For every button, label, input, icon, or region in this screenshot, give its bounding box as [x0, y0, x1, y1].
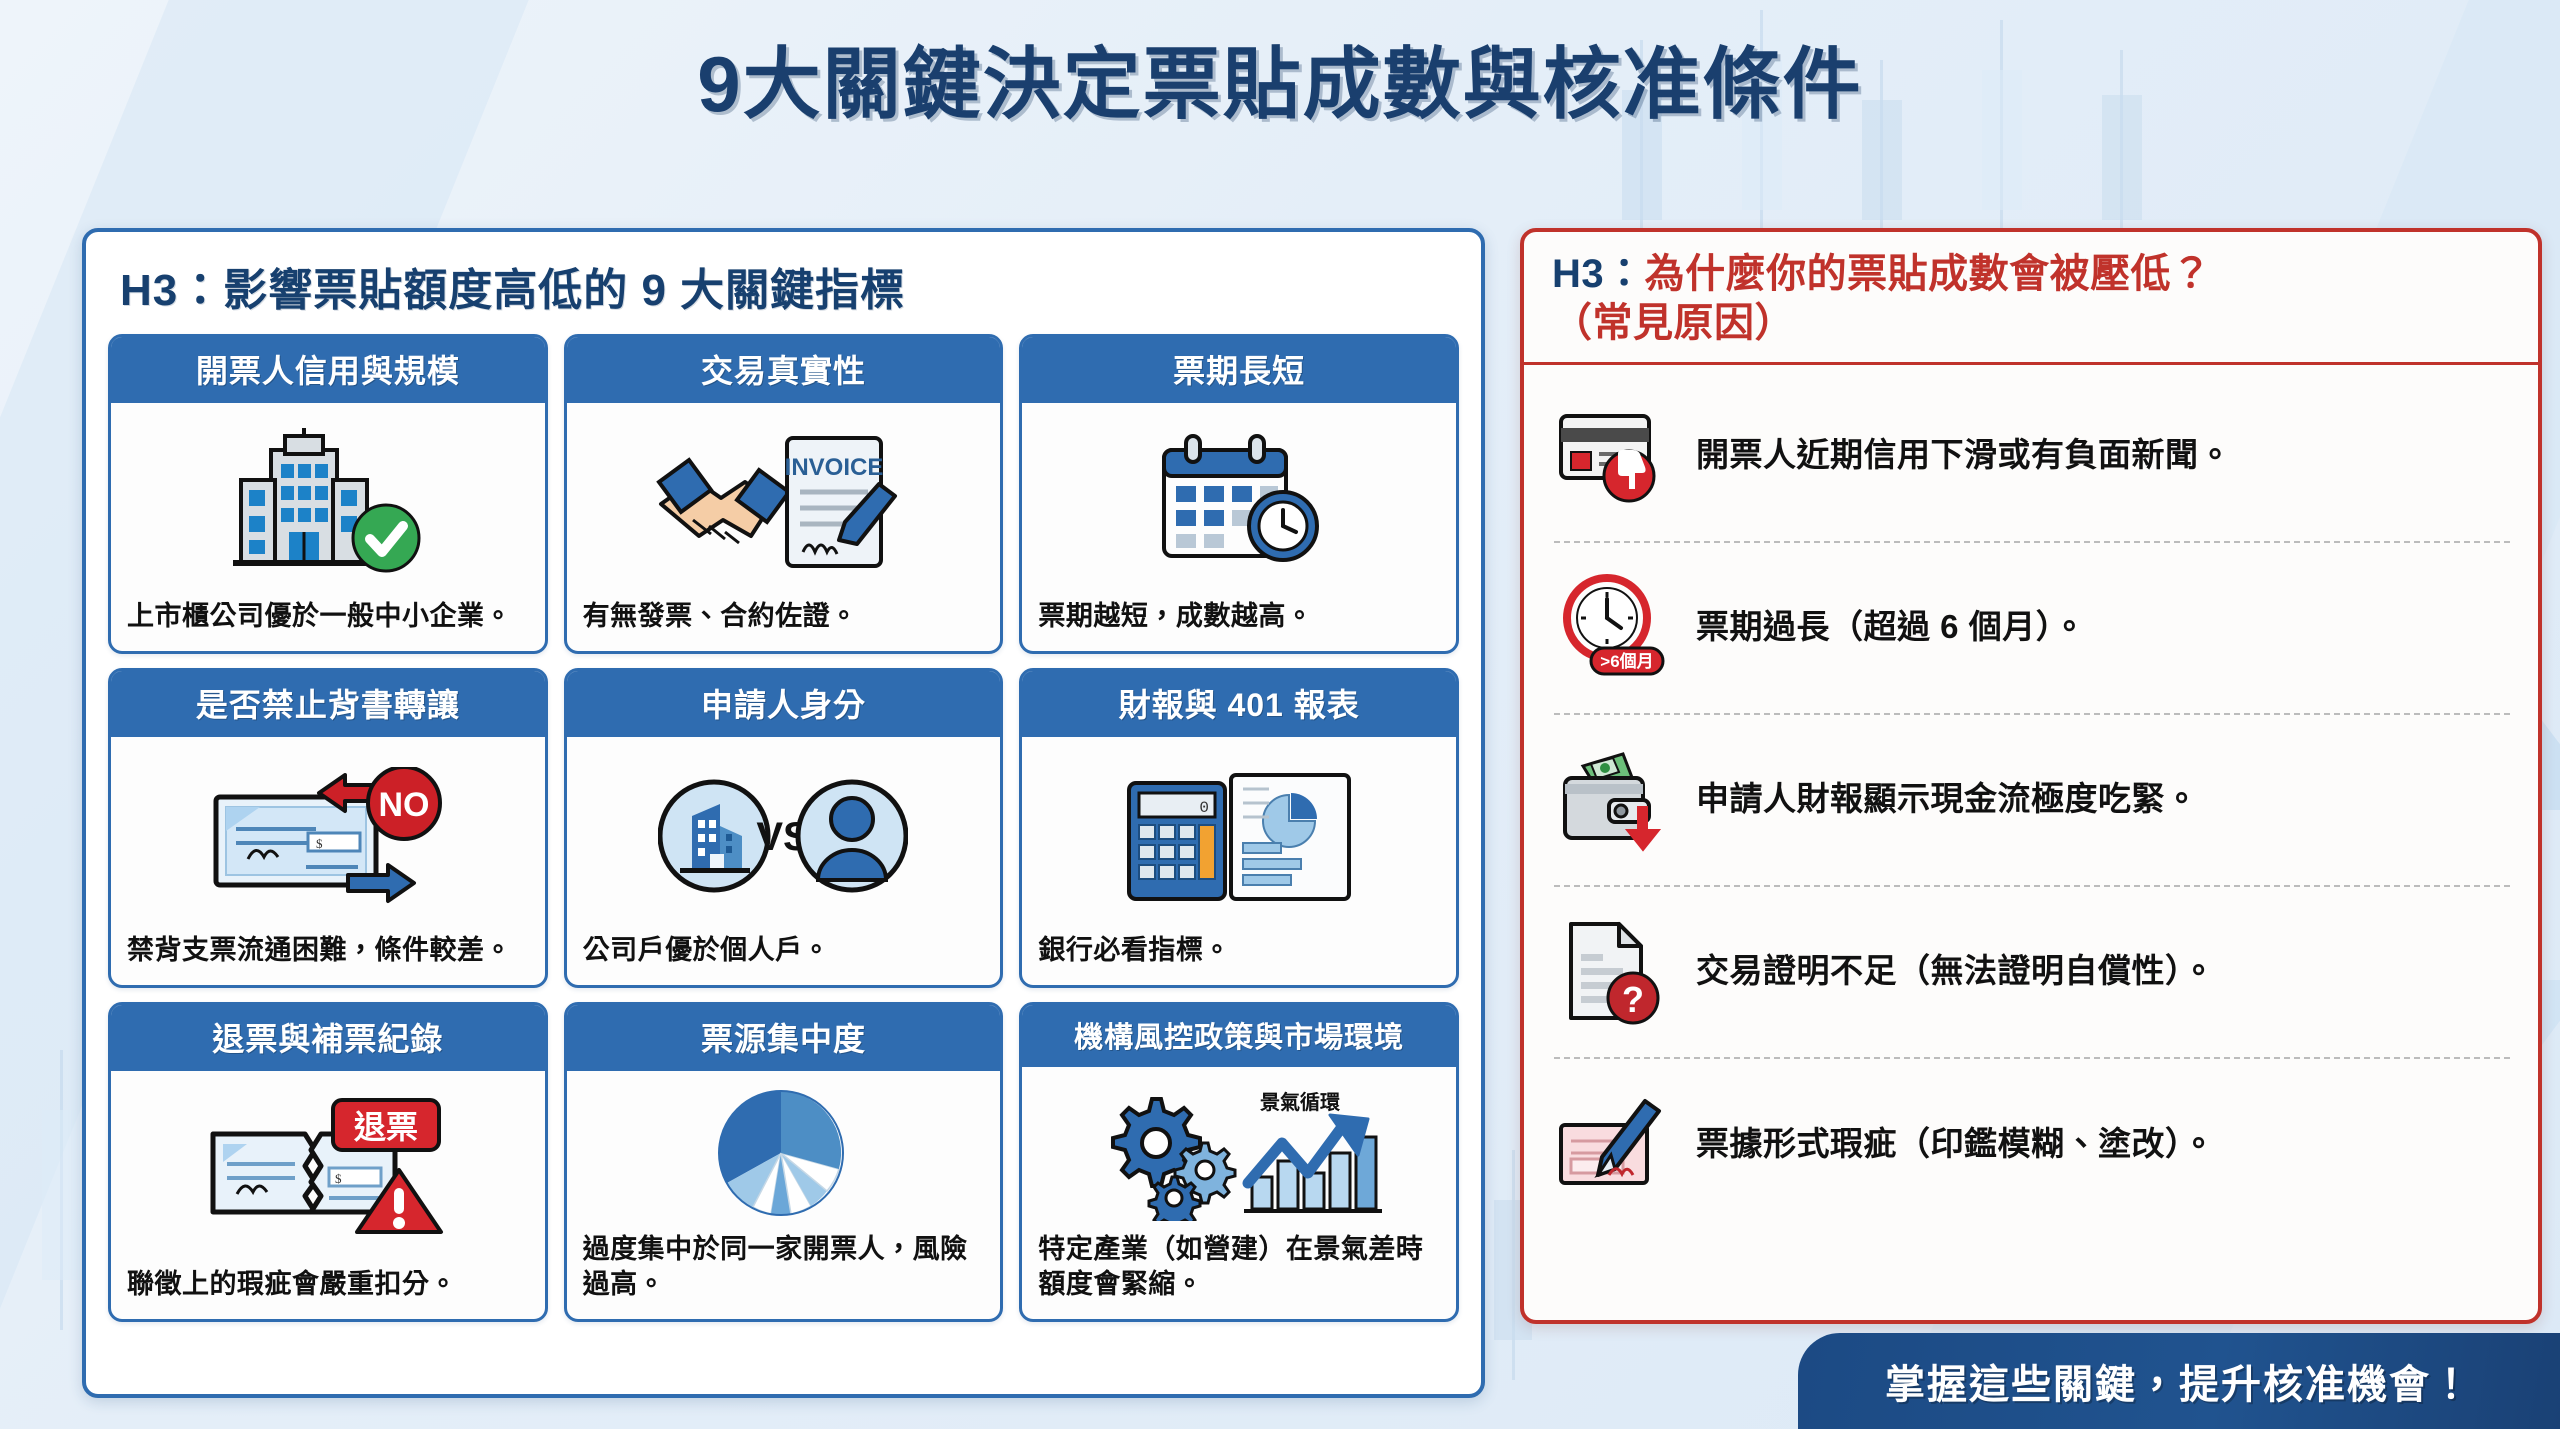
- reason-list-item[interactable]: 票據形式瑕疵（印鑑模糊、塗改）。: [1554, 1059, 2510, 1231]
- indicator-card-bounced-check-record[interactable]: 退票與補票紀錄 $ 退票: [108, 1002, 548, 1322]
- card-header: 財報與 401 報表: [1022, 671, 1456, 737]
- card-header: 機構風控政策與市場環境: [1022, 1005, 1456, 1067]
- business-cycle-label: 景氣循環: [1260, 1090, 1341, 1114]
- reasons-list: 開票人近期信用下滑或有負面新聞。 >6個月 票期過長（超過 6 個月）。: [1524, 365, 2538, 1231]
- reasons-heading-main: 為什麼你的票貼成數會被壓低？: [1645, 252, 2212, 296]
- card-caption: 特定產業（如營建）在景氣差時額度會緊縮。: [1022, 1232, 1456, 1319]
- card-caption: 上市櫃公司優於一般中小企業。: [111, 599, 545, 651]
- handshake-invoice-icon: INVOICE: [567, 403, 1001, 599]
- question-mark-glyph: ?: [1622, 979, 1644, 1020]
- card-header: 申請人身分: [567, 671, 1001, 737]
- reason-text: 開票人近期信用下滑或有負面新聞。: [1696, 434, 2232, 477]
- indicator-card-financials-401[interactable]: 財報與 401 報表 0: [1019, 668, 1459, 988]
- card-caption: 有無發票、合約佐證。: [567, 599, 1001, 651]
- indicator-card-transaction-authenticity[interactable]: 交易真實性 INVOICE 有無發票、合約佐證。: [564, 334, 1004, 654]
- reasons-heading-sub: （常見原因）: [1552, 301, 1795, 345]
- reason-text: 交易證明不足（無法證明自償性）。: [1696, 950, 2216, 993]
- card-header: 票源集中度: [567, 1005, 1001, 1071]
- card-caption: 聯徵上的瑕疵會嚴重扣分。: [111, 1267, 545, 1319]
- indicators-panel: H3：影響票貼額度高低的 9 大關鍵指標 開票人信用與規模: [82, 228, 1485, 1398]
- reasons-heading-prefix: H3：: [1552, 252, 1645, 296]
- calculator-report-icon: 0: [1022, 737, 1456, 933]
- indicator-card-endorsement-ban[interactable]: 是否禁止背書轉讓 $ NO: [108, 668, 548, 988]
- page-title: 9大關鍵決定票貼成數與核准條件: [0, 22, 2560, 134]
- pie-chart-icon: [567, 1071, 1001, 1232]
- reason-text: 票期過長（超過 6 個月）。: [1696, 606, 2086, 649]
- company-vs-person-icon: VS: [567, 737, 1001, 933]
- svg-text:$: $: [335, 1171, 342, 1186]
- indicator-card-grid: 開票人信用與規模: [86, 328, 1481, 1344]
- reason-text: 申請人財報顯示現金流極度吃緊。: [1696, 778, 2199, 821]
- bounced-badge-label: 退票: [353, 1109, 418, 1145]
- indicator-card-risk-policy-market[interactable]: 機構風控政策與市場環境 景氣循環: [1019, 1002, 1459, 1322]
- footer-text: 掌握這些關鍵，提升核准機會！: [1885, 1352, 2473, 1410]
- torn-check-warning-icon: $ 退票: [111, 1071, 545, 1267]
- overdue-badge-label: >6個月: [1600, 651, 1653, 671]
- card-header: 票期長短: [1022, 337, 1456, 403]
- indicator-card-tenor[interactable]: 票期長短: [1019, 334, 1459, 654]
- reason-list-item[interactable]: 開票人近期信用下滑或有負面新聞。: [1554, 371, 2510, 543]
- footer-banner: 掌握這些關鍵，提升核准機會！: [1798, 1333, 2560, 1429]
- card-header: 開票人信用與規模: [111, 337, 545, 403]
- gears-growth-chart-icon: 景氣循環: [1022, 1067, 1456, 1232]
- reasons-panel: H3：為什麼你的票貼成數會被壓低？ （常見原因） 開票人近期信用下滑或有負面新聞…: [1520, 228, 2542, 1324]
- indicator-card-source-concentration[interactable]: 票源集中度 過度集中於同一家開票人，風險過高。: [564, 1002, 1004, 1322]
- svg-text:0: 0: [1200, 799, 1210, 817]
- indicator-card-issuer-credit[interactable]: 開票人信用與規模: [108, 334, 548, 654]
- reasons-panel-heading: H3：為什麼你的票貼成數會被壓低？ （常見原因）: [1524, 232, 2538, 365]
- card-header: 交易真實性: [567, 337, 1001, 403]
- reason-text: 票據形式瑕疵（印鑑模糊、塗改）。: [1696, 1123, 2216, 1166]
- check-no-transfer-icon: $ NO: [111, 737, 545, 933]
- document-question-icon: ?: [1554, 918, 1672, 1026]
- indicators-panel-heading: H3：影響票貼額度高低的 9 大關鍵指標: [86, 232, 1481, 328]
- card-caption: 銀行必看指標。: [1022, 933, 1456, 985]
- card-caption: 票期越短，成數越高。: [1022, 599, 1456, 651]
- svg-text:$: $: [316, 836, 323, 851]
- card-caption: 禁背支票流通困難，條件較差。: [111, 933, 545, 985]
- clock-overdue-icon: >6個月: [1554, 574, 1672, 682]
- office-building-check-icon: [111, 403, 545, 599]
- card-header: 是否禁止背書轉讓: [111, 671, 545, 737]
- no-badge-label: NO: [378, 786, 429, 824]
- reason-list-item[interactable]: ? 交易證明不足（無法證明自償性）。: [1554, 887, 2510, 1059]
- indicator-card-applicant-type[interactable]: 申請人身分 VS: [564, 668, 1004, 988]
- invoice-label: INVOICE: [785, 454, 884, 481]
- card-caption: 過度集中於同一家開票人，風險過高。: [567, 1232, 1001, 1319]
- check-pen-flaw-icon: [1554, 1097, 1672, 1193]
- card-header: 退票與補票紀錄: [111, 1005, 545, 1071]
- reason-list-item[interactable]: >6個月 票期過長（超過 6 個月）。: [1554, 543, 2510, 715]
- calendar-clock-icon: [1022, 403, 1456, 599]
- reason-list-item[interactable]: 申請人財報顯示現金流極度吃緊。: [1554, 715, 2510, 887]
- credit-card-thumbsdown-icon: [1554, 408, 1672, 504]
- wallet-down-arrow-icon: [1554, 748, 1672, 852]
- card-caption: 公司戶優於個人戶。: [567, 933, 1001, 985]
